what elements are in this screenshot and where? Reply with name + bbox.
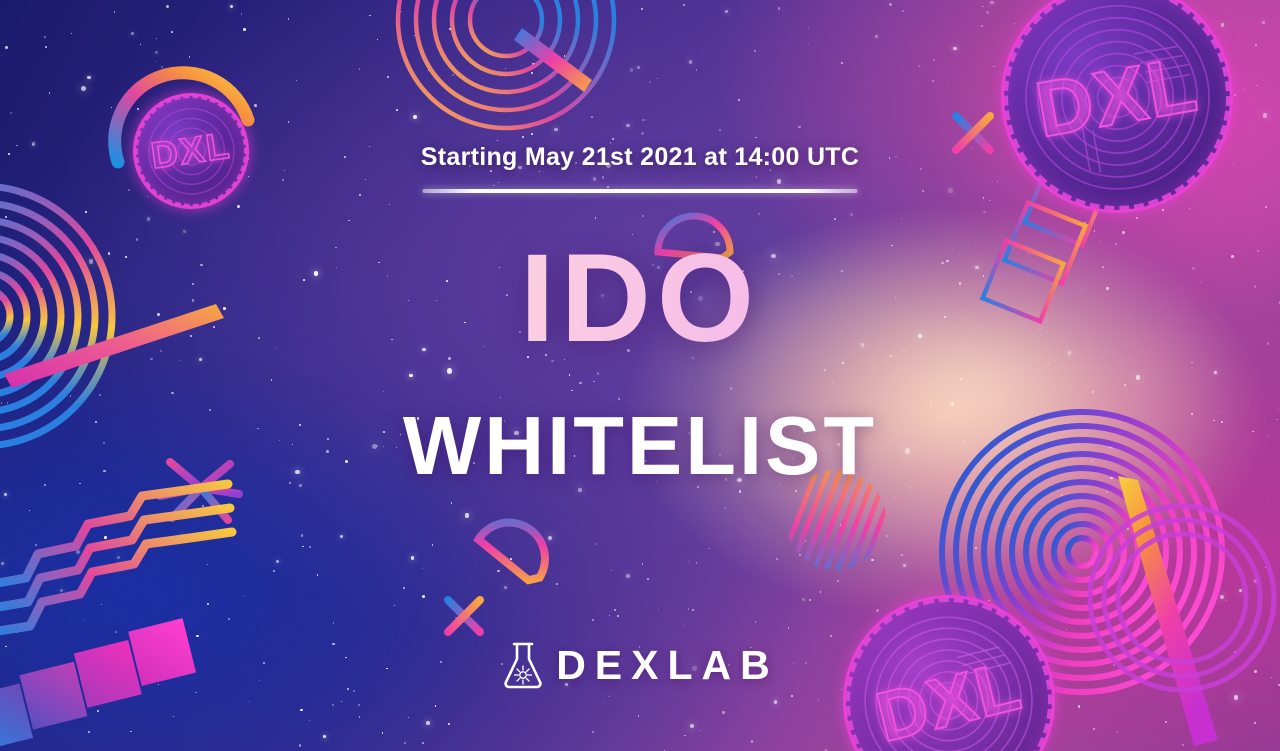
dexlab-logo: DEXLAB [0, 640, 1280, 690]
ido-whitelist-banner: DXL DXL [0, 0, 1280, 751]
title-whitelist: WHITELIST [0, 404, 1280, 487]
divider-rule [423, 189, 858, 193]
flask-icon [501, 640, 545, 690]
title-ido: IDO [0, 236, 1280, 361]
brand-name: DEXLAB [556, 642, 779, 689]
subtitle-container: Starting May 21st 2021 at 14:00 UTC [0, 143, 1280, 172]
event-subtitle: Starting May 21st 2021 at 14:00 UTC [421, 143, 859, 172]
banner-content: Starting May 21st 2021 at 14:00 UTC IDO … [0, 0, 1280, 751]
